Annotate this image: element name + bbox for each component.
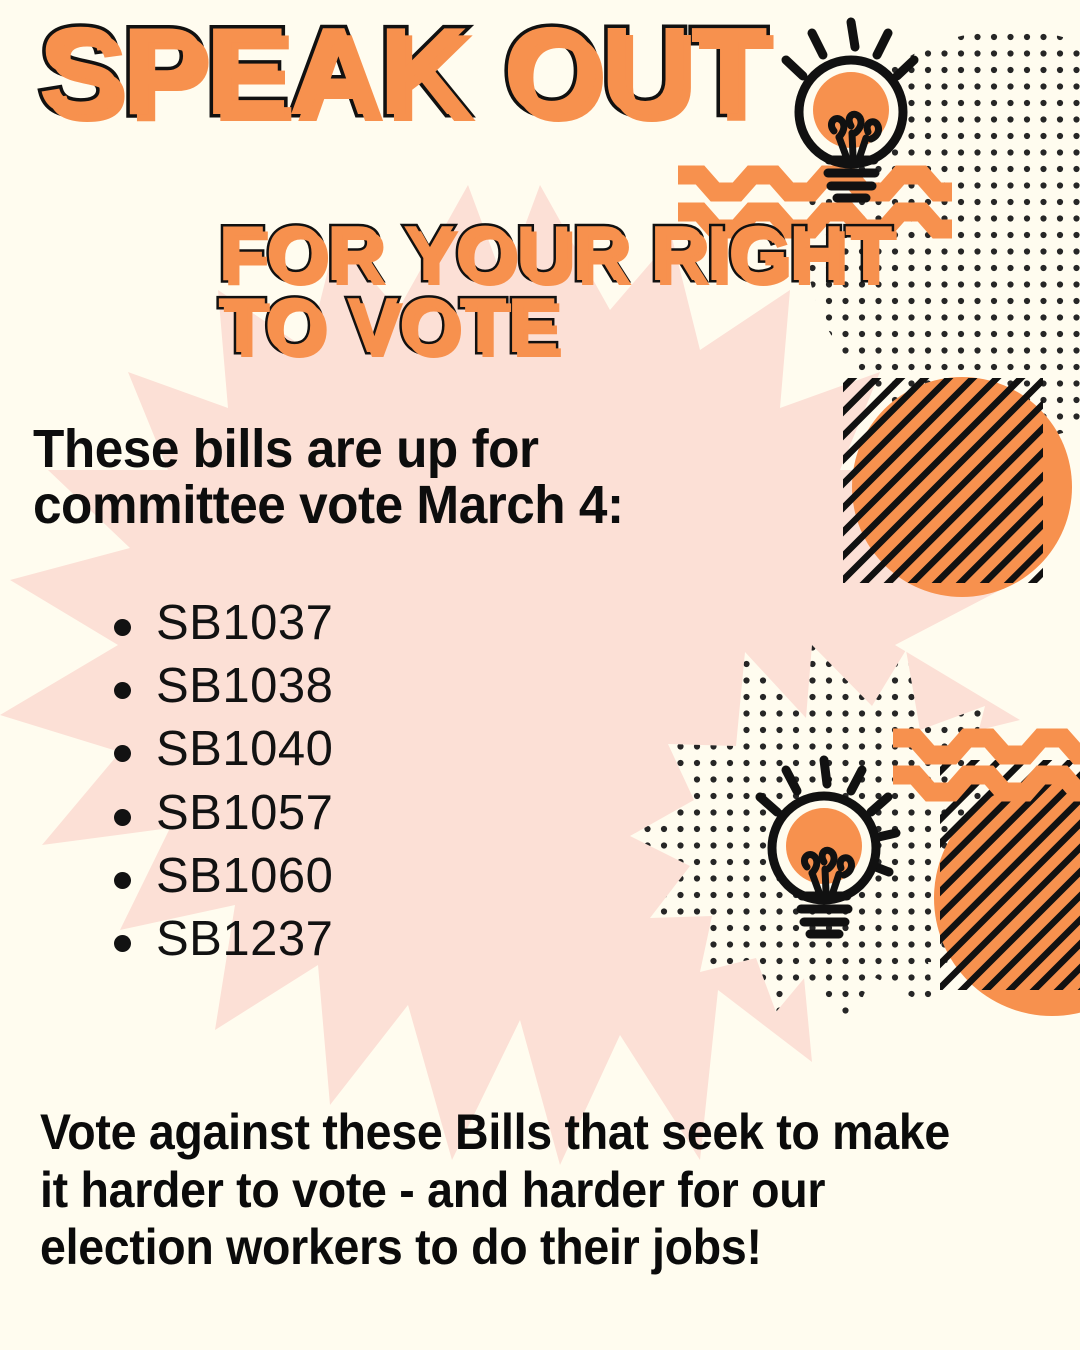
- poster-canvas: SPEAK OUT FOR YOUR RIGHT TO VOTE These b…: [0, 0, 1080, 1350]
- list-item: SB1040: [156, 718, 333, 781]
- bill-list: SB1037 SB1038 SB1040 SB1057 SB1060 SB123…: [96, 592, 333, 971]
- list-item: SB1038: [156, 655, 333, 718]
- list-item: SB1237: [156, 908, 333, 971]
- list-item: SB1060: [156, 845, 333, 908]
- poster-title-line1: SPEAK OUT: [38, 12, 767, 134]
- list-item: SB1037: [156, 592, 333, 655]
- poster-title-line2: FOR YOUR RIGHT TO VOTE: [218, 218, 978, 362]
- bills-heading: These bills are up for committee vote Ma…: [33, 422, 755, 533]
- closing-call-to-action: Vote against these Bills that seek to ma…: [40, 1104, 989, 1277]
- list-item: SB1057: [156, 782, 333, 845]
